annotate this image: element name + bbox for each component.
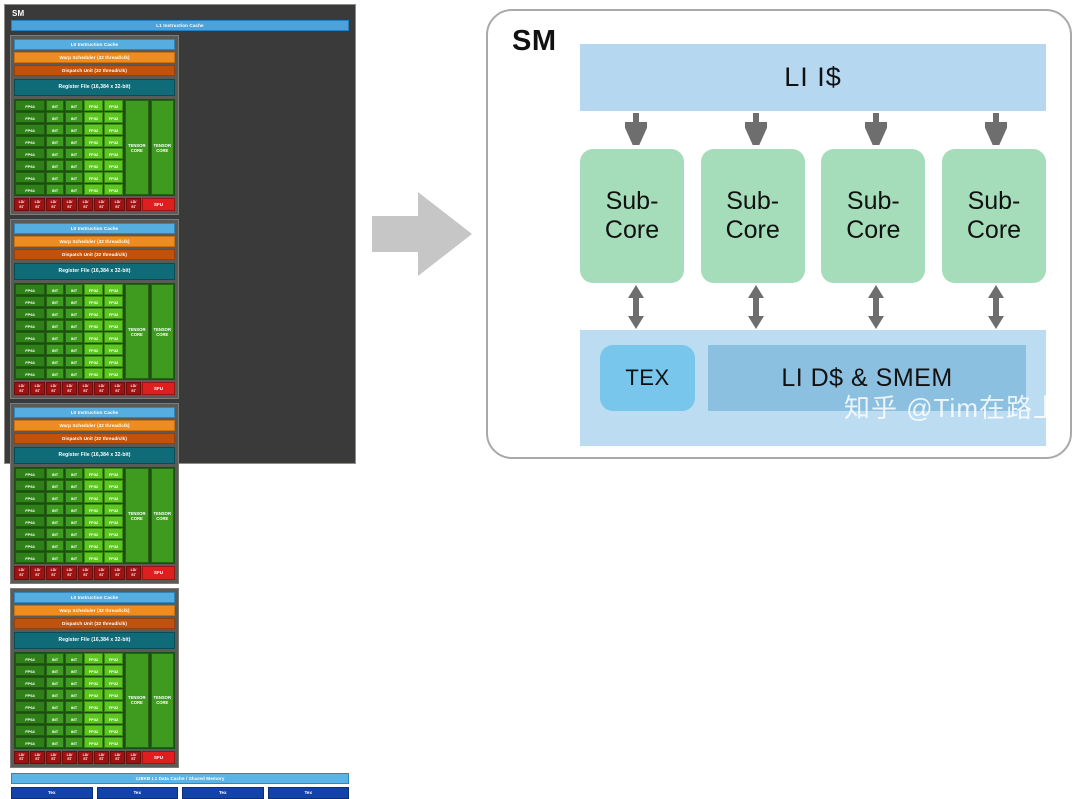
fp64-unit: FP64: [15, 184, 45, 195]
fp32-unit: FP32: [84, 701, 103, 712]
int-unit: INT: [65, 552, 83, 563]
fp64-unit: FP64: [15, 480, 45, 491]
ldst-sfu-row: LD/STLD/STLD/STLD/STLD/STLD/STLD/STLD/ST…: [14, 751, 175, 764]
int-unit: INT: [46, 284, 64, 295]
ldst-unit: LD/ST: [110, 382, 125, 395]
subcore-label-line1: Sub-: [606, 187, 659, 216]
int-unit: INT: [65, 480, 83, 491]
dispatch-unit-bar: Dispatch Unit (32 thread/clk): [14, 65, 175, 76]
arrow-bidirectional-icon: [866, 285, 886, 329]
sm-die-label: SM: [10, 9, 350, 18]
subcore-label-line2: Core: [726, 216, 780, 245]
fp64-unit: FP64: [15, 332, 45, 343]
int-unit: INT: [65, 136, 83, 147]
fp64-unit-column: FP64FP64FP64FP64FP64FP64FP64FP64: [15, 100, 45, 195]
right-arrow-icon: [372, 186, 476, 282]
fp32-unit: FP32: [84, 296, 103, 307]
ldst-unit: LD/ST: [30, 566, 45, 579]
fp32-unit: FP32: [84, 653, 103, 664]
fp32-unit-column: FP32FP32FP32FP32FP32FP32FP32FP32: [84, 653, 103, 748]
ldst-unit: LD/ST: [62, 198, 77, 211]
int-unit: INT: [46, 112, 64, 123]
int-unit: INT: [46, 136, 64, 147]
core-array: FP64FP64FP64FP64FP64FP64FP64FP64INTINTIN…: [14, 652, 175, 749]
dispatch-unit-bar: Dispatch Unit (32 thread/clk): [14, 618, 175, 629]
int-unit: INT: [65, 284, 83, 295]
fp64-unit: FP64: [15, 552, 45, 563]
fp64-unit: FP64: [15, 368, 45, 379]
ldst-unit: LD/ST: [30, 382, 45, 395]
ldst-unit: LD/ST: [62, 751, 77, 764]
ldst-unit: LD/ST: [14, 382, 29, 395]
ldst-unit: LD/ST: [110, 751, 125, 764]
int-unit: INT: [46, 725, 64, 736]
int-unit: INT: [46, 368, 64, 379]
fp32-unit: FP32: [104, 665, 123, 676]
dispatch-unit-bar: Dispatch Unit (32 thread/clk): [14, 433, 175, 444]
l0-instruction-cache-bar: L0 Instruction Cache: [14, 39, 175, 50]
fp32-unit: FP32: [84, 528, 103, 539]
sub-partition: L0 Instruction CacheWarp Scheduler (32 t…: [10, 403, 179, 583]
warp-scheduler-bar: Warp Scheduler (32 thread/clk): [14, 420, 175, 431]
fp64-unit: FP64: [15, 344, 45, 355]
fp32-unit: FP32: [84, 725, 103, 736]
subcore-label-line2: Core: [846, 216, 900, 245]
fp32-unit: FP32: [84, 516, 103, 527]
int-unit: INT: [65, 172, 83, 183]
ldst-sfu-row: LD/STLD/STLD/STLD/STLD/STLD/STLD/STLD/ST…: [14, 382, 175, 395]
sub-partition: L0 Instruction CacheWarp Scheduler (32 t…: [10, 35, 179, 215]
int-unit: INT: [46, 737, 64, 748]
int-unit-column: INTINTINTINTINTINTINTINT: [65, 284, 83, 379]
fp32-unit: FP32: [84, 552, 103, 563]
int-unit-column: INTINTINTINTINTINTINTINT: [65, 653, 83, 748]
fp32-unit: FP32: [84, 320, 103, 331]
tensor-core: TENSORCORE: [151, 653, 175, 748]
int-unit: INT: [46, 320, 64, 331]
fp64-unit: FP64: [15, 725, 45, 736]
tensor-core: TENSORCORE: [125, 284, 149, 379]
fp32-unit: FP32: [84, 492, 103, 503]
tex-block: TEX: [600, 345, 695, 411]
int-unit: INT: [65, 332, 83, 343]
int-unit: INT: [46, 713, 64, 724]
fp32-unit: FP32: [104, 725, 123, 736]
fp32-unit: FP32: [104, 308, 123, 319]
int-unit-column: INTINTINTINTINTINTINTINT: [46, 100, 64, 195]
int-unit-column: INTINTINTINTINTINTINTINT: [46, 468, 64, 563]
fp32-unit: FP32: [84, 124, 103, 135]
int-unit: INT: [65, 516, 83, 527]
fp64-unit: FP64: [15, 653, 45, 664]
fp64-unit: FP64: [15, 148, 45, 159]
fp64-unit: FP64: [15, 701, 45, 712]
int-unit: INT: [46, 677, 64, 688]
int-unit: INT: [46, 701, 64, 712]
int-unit: INT: [65, 540, 83, 551]
ldst-unit: LD/ST: [126, 566, 141, 579]
core-array: FP64FP64FP64FP64FP64FP64FP64FP64INTINTIN…: [14, 99, 175, 196]
int-unit: INT: [65, 100, 83, 111]
int-unit: INT: [46, 172, 64, 183]
sfu-unit: SFU: [142, 382, 175, 395]
subcore-row: Sub-CoreSub-CoreSub-CoreSub-Core: [580, 149, 1046, 283]
int-unit: INT: [46, 100, 64, 111]
int-unit: INT: [65, 344, 83, 355]
tex-unit: Tex: [11, 787, 93, 799]
int-unit: INT: [46, 148, 64, 159]
int-unit: INT: [46, 528, 64, 539]
l0-instruction-cache-bar: L0 Instruction Cache: [14, 223, 175, 234]
int-unit: INT: [46, 540, 64, 551]
int-unit: INT: [65, 653, 83, 664]
int-unit: INT: [46, 665, 64, 676]
fp32-unit: FP32: [84, 468, 103, 479]
int-unit: INT: [46, 332, 64, 343]
memory-block: TEX LI D$ & SMEM: [580, 330, 1046, 446]
fp32-unit: FP32: [84, 356, 103, 367]
fp32-unit: FP32: [84, 160, 103, 171]
fp32-unit-column: FP32FP32FP32FP32FP32FP32FP32FP32: [84, 100, 103, 195]
ldst-unit: LD/ST: [126, 751, 141, 764]
int-unit: INT: [65, 160, 83, 171]
core-array: FP64FP64FP64FP64FP64FP64FP64FP64INTINTIN…: [14, 283, 175, 380]
arrow-bidirectional-icon: [746, 285, 766, 329]
fp32-unit-column: FP32FP32FP32FP32FP32FP32FP32FP32: [104, 653, 123, 748]
fp32-unit: FP32: [84, 737, 103, 748]
sfu-unit: SFU: [142, 751, 175, 764]
ldst-unit: LD/ST: [62, 382, 77, 395]
ldst-unit: LD/ST: [94, 751, 109, 764]
fp64-unit: FP64: [15, 284, 45, 295]
int-unit: INT: [65, 504, 83, 515]
fp32-unit: FP32: [104, 552, 123, 563]
fp64-unit: FP64: [15, 677, 45, 688]
fp64-unit: FP64: [15, 737, 45, 748]
sm-block-diagram: SM LI I$ Sub-CoreSub-CoreSub-CoreSub-Cor…: [486, 9, 1072, 459]
ldst-unit: LD/ST: [46, 566, 61, 579]
int-unit-column: INTINTINTINTINTINTINTINT: [65, 100, 83, 195]
int-unit: INT: [65, 356, 83, 367]
sm-block-title: SM: [512, 25, 557, 58]
fp32-unit: FP32: [104, 320, 123, 331]
register-file-bar: Register File (16,384 x 32-bit): [14, 447, 175, 464]
ldst-unit: LD/ST: [14, 198, 29, 211]
fp32-unit: FP32: [84, 148, 103, 159]
int-unit: INT: [65, 701, 83, 712]
int-unit: INT: [65, 296, 83, 307]
dispatch-unit-bar: Dispatch Unit (32 thread/clk): [14, 249, 175, 260]
fp32-unit: FP32: [104, 112, 123, 123]
fp64-unit: FP64: [15, 689, 45, 700]
fp32-unit: FP32: [104, 528, 123, 539]
int-unit-column: INTINTINTINTINTINTINTINT: [46, 284, 64, 379]
int-unit: INT: [46, 480, 64, 491]
fp32-unit: FP32: [84, 112, 103, 123]
tex-unit-row: TexTexTexTex: [10, 787, 350, 799]
arrow-bidirectional-icon: [986, 285, 1006, 329]
fp32-unit: FP32: [104, 296, 123, 307]
ldst-sfu-row: LD/STLD/STLD/STLD/STLD/STLD/STLD/STLD/ST…: [14, 198, 175, 211]
arrow-down-icon: [745, 113, 767, 145]
tensor-core: TENSORCORE: [125, 468, 149, 563]
int-unit: INT: [46, 160, 64, 171]
fp32-unit-column: FP32FP32FP32FP32FP32FP32FP32FP32: [104, 284, 123, 379]
ldst-unit: LD/ST: [94, 566, 109, 579]
tensor-core: TENSORCORE: [151, 100, 175, 195]
int-unit: INT: [46, 653, 64, 664]
arrow-down-icon: [625, 113, 647, 145]
int-unit: INT: [65, 725, 83, 736]
fp32-unit: FP32: [104, 284, 123, 295]
arrow-bidirectional-icon: [626, 285, 646, 329]
l1-data-cache-bar: 128KB L1 Data Cache / Shared Memory: [11, 773, 349, 784]
subcore-block: Sub-Core: [942, 149, 1046, 283]
fp32-unit: FP32: [104, 677, 123, 688]
ldst-unit: LD/ST: [110, 198, 125, 211]
fp32-unit: FP32: [104, 480, 123, 491]
subcore-block: Sub-Core: [580, 149, 684, 283]
fp32-unit: FP32: [104, 468, 123, 479]
int-unit: INT: [65, 124, 83, 135]
fp64-unit: FP64: [15, 124, 45, 135]
register-file-bar: Register File (16,384 x 32-bit): [14, 79, 175, 96]
int-unit: INT: [65, 368, 83, 379]
int-unit: INT: [46, 468, 64, 479]
fp32-unit-column: FP32FP32FP32FP32FP32FP32FP32FP32: [104, 100, 123, 195]
fp32-unit: FP32: [104, 368, 123, 379]
tensor-core-group: TENSORCORETENSORCORE: [125, 284, 174, 379]
ldst-unit: LD/ST: [14, 751, 29, 764]
int-unit: INT: [46, 492, 64, 503]
fp64-unit: FP64: [15, 308, 45, 319]
fp64-unit-column: FP64FP64FP64FP64FP64FP64FP64FP64: [15, 468, 45, 563]
ldst-unit: LD/ST: [14, 566, 29, 579]
fp32-unit: FP32: [84, 480, 103, 491]
l1-data-smem-block: LI D$ & SMEM: [708, 345, 1026, 411]
fp64-unit: FP64: [15, 112, 45, 123]
fp64-unit: FP64: [15, 356, 45, 367]
fp32-unit-column: FP32FP32FP32FP32FP32FP32FP32FP32: [104, 468, 123, 563]
fp32-unit: FP32: [104, 504, 123, 515]
ldst-unit: LD/ST: [126, 382, 141, 395]
ldst-unit: LD/ST: [94, 382, 109, 395]
fp32-unit: FP32: [84, 136, 103, 147]
ldst-sfu-row: LD/STLD/STLD/STLD/STLD/STLD/STLD/STLD/ST…: [14, 566, 175, 579]
fp64-unit: FP64: [15, 528, 45, 539]
fp32-unit: FP32: [84, 689, 103, 700]
alu-columns: FP64FP64FP64FP64FP64FP64FP64FP64INTINTIN…: [15, 100, 123, 195]
warp-scheduler-bar: Warp Scheduler (32 thread/clk): [14, 236, 175, 247]
int-unit: INT: [65, 737, 83, 748]
tensor-core-group: TENSORCORETENSORCORE: [125, 468, 174, 563]
fp64-unit: FP64: [15, 296, 45, 307]
l1-instruction-cache-block: LI I$: [580, 44, 1046, 111]
ldst-unit: LD/ST: [46, 198, 61, 211]
tensor-core-group: TENSORCORETENSORCORE: [125, 100, 174, 195]
fp32-unit: FP32: [84, 665, 103, 676]
l1-instruction-cache-bar: L1 Instruction Cache: [11, 20, 349, 31]
tensor-core: TENSORCORE: [125, 100, 149, 195]
fp32-unit: FP32: [104, 148, 123, 159]
subcore-label-line1: Sub-: [968, 187, 1021, 216]
int-unit: INT: [46, 356, 64, 367]
fp32-unit: FP32: [84, 184, 103, 195]
tex-unit: Tex: [182, 787, 264, 799]
int-unit: INT: [65, 528, 83, 539]
subcore-block: Sub-Core: [821, 149, 925, 283]
arrow-down-icon: [985, 113, 1007, 145]
fp32-unit: FP32: [104, 344, 123, 355]
tensor-core: TENSORCORE: [151, 468, 175, 563]
fp32-unit: FP32: [104, 136, 123, 147]
fp64-unit-column: FP64FP64FP64FP64FP64FP64FP64FP64: [15, 653, 45, 748]
ldst-unit: LD/ST: [78, 198, 93, 211]
fp64-unit: FP64: [15, 516, 45, 527]
int-unit: INT: [65, 689, 83, 700]
sfu-unit: SFU: [142, 566, 175, 579]
fp64-unit: FP64: [15, 468, 45, 479]
fp32-unit: FP32: [104, 492, 123, 503]
fp64-unit-column: FP64FP64FP64FP64FP64FP64FP64FP64: [15, 284, 45, 379]
subcore-label-line1: Sub-: [847, 187, 900, 216]
fp32-unit: FP32: [104, 172, 123, 183]
int-unit: INT: [46, 344, 64, 355]
ldst-unit: LD/ST: [30, 198, 45, 211]
alu-columns: FP64FP64FP64FP64FP64FP64FP64FP64INTINTIN…: [15, 653, 123, 748]
sub-partition-grid: L0 Instruction CacheWarp Scheduler (32 t…: [10, 35, 350, 768]
ldst-unit: LD/ST: [78, 566, 93, 579]
tensor-core: TENSORCORE: [125, 653, 149, 748]
sub-partition: L0 Instruction CacheWarp Scheduler (32 t…: [10, 588, 179, 768]
int-unit: INT: [65, 492, 83, 503]
fp32-unit-column: FP32FP32FP32FP32FP32FP32FP32FP32: [84, 284, 103, 379]
alu-columns: FP64FP64FP64FP64FP64FP64FP64FP64INTINTIN…: [15, 284, 123, 379]
sm-die-diagram: SM L1 Instruction Cache L0 Instruction C…: [4, 4, 356, 464]
fp32-unit: FP32: [104, 356, 123, 367]
ldst-unit: LD/ST: [46, 751, 61, 764]
fp32-unit: FP32: [104, 516, 123, 527]
fp32-unit: FP32: [84, 308, 103, 319]
fp32-unit: FP32: [104, 540, 123, 551]
fp32-unit: FP32: [84, 677, 103, 688]
int-unit: INT: [46, 504, 64, 515]
fp32-unit: FP32: [104, 713, 123, 724]
int-unit: INT: [65, 148, 83, 159]
fp64-unit: FP64: [15, 160, 45, 171]
int-unit: INT: [46, 552, 64, 563]
fp32-unit: FP32: [84, 368, 103, 379]
ldst-unit: LD/ST: [78, 751, 93, 764]
arrow-down-icon: [865, 113, 887, 145]
sub-partition: L0 Instruction CacheWarp Scheduler (32 t…: [10, 219, 179, 399]
fp32-unit: FP32: [104, 124, 123, 135]
int-unit: INT: [65, 468, 83, 479]
fp64-unit: FP64: [15, 136, 45, 147]
warp-scheduler-bar: Warp Scheduler (32 thread/clk): [14, 52, 175, 63]
sfu-unit: SFU: [142, 198, 175, 211]
fp32-unit: FP32: [104, 737, 123, 748]
ldst-unit: LD/ST: [110, 566, 125, 579]
ldst-unit: LD/ST: [78, 382, 93, 395]
fp32-unit: FP32: [104, 689, 123, 700]
fp64-unit: FP64: [15, 320, 45, 331]
tensor-core-group: TENSORCORETENSORCORE: [125, 653, 174, 748]
int-unit: INT: [46, 124, 64, 135]
subcore-block: Sub-Core: [701, 149, 805, 283]
register-file-bar: Register File (16,384 x 32-bit): [14, 263, 175, 280]
int-unit: INT: [46, 516, 64, 527]
core-array: FP64FP64FP64FP64FP64FP64FP64FP64INTINTIN…: [14, 467, 175, 564]
ldst-unit: LD/ST: [62, 566, 77, 579]
fp64-unit: FP64: [15, 540, 45, 551]
subcore-label-line1: Sub-: [726, 187, 779, 216]
ldst-unit: LD/ST: [46, 382, 61, 395]
fp32-unit: FP32: [84, 172, 103, 183]
int-unit-column: INTINTINTINTINTINTINTINT: [46, 653, 64, 748]
int-unit: INT: [46, 308, 64, 319]
fp32-unit: FP32: [104, 332, 123, 343]
fp64-unit: FP64: [15, 100, 45, 111]
fp64-unit: FP64: [15, 172, 45, 183]
l0-instruction-cache-bar: L0 Instruction Cache: [14, 407, 175, 418]
fp32-unit: FP32: [84, 713, 103, 724]
tex-unit: Tex: [268, 787, 350, 799]
fp32-unit: FP32: [104, 701, 123, 712]
int-unit: INT: [46, 689, 64, 700]
fp32-unit: FP32: [84, 344, 103, 355]
fp32-unit: FP32: [104, 653, 123, 664]
fp64-unit: FP64: [15, 492, 45, 503]
alu-columns: FP64FP64FP64FP64FP64FP64FP64FP64INTINTIN…: [15, 468, 123, 563]
int-unit: INT: [65, 713, 83, 724]
int-unit: INT: [65, 665, 83, 676]
fp32-unit: FP32: [104, 160, 123, 171]
fp32-unit-column: FP32FP32FP32FP32FP32FP32FP32FP32: [84, 468, 103, 563]
fp32-unit: FP32: [84, 504, 103, 515]
fp32-unit: FP32: [104, 100, 123, 111]
fp32-unit: FP32: [84, 284, 103, 295]
fp32-unit: FP32: [84, 100, 103, 111]
tensor-core: TENSORCORE: [151, 284, 175, 379]
l0-instruction-cache-bar: L0 Instruction Cache: [14, 592, 175, 603]
int-unit: INT: [46, 184, 64, 195]
ldst-unit: LD/ST: [30, 751, 45, 764]
int-unit-column: INTINTINTINTINTINTINTINT: [65, 468, 83, 563]
ldst-unit: LD/ST: [94, 198, 109, 211]
subcore-label-line2: Core: [605, 216, 659, 245]
fp64-unit: FP64: [15, 713, 45, 724]
int-unit: INT: [65, 320, 83, 331]
fp32-unit: FP32: [104, 184, 123, 195]
fp32-unit: FP32: [84, 332, 103, 343]
warp-scheduler-bar: Warp Scheduler (32 thread/clk): [14, 605, 175, 616]
fp32-unit: FP32: [84, 540, 103, 551]
int-unit: INT: [65, 112, 83, 123]
int-unit: INT: [65, 677, 83, 688]
int-unit: INT: [65, 308, 83, 319]
fp64-unit: FP64: [15, 504, 45, 515]
tex-unit: Tex: [97, 787, 179, 799]
register-file-bar: Register File (16,384 x 32-bit): [14, 632, 175, 649]
fp64-unit: FP64: [15, 665, 45, 676]
ldst-unit: LD/ST: [126, 198, 141, 211]
int-unit: INT: [65, 184, 83, 195]
subcore-label-line2: Core: [967, 216, 1021, 245]
int-unit: INT: [46, 296, 64, 307]
